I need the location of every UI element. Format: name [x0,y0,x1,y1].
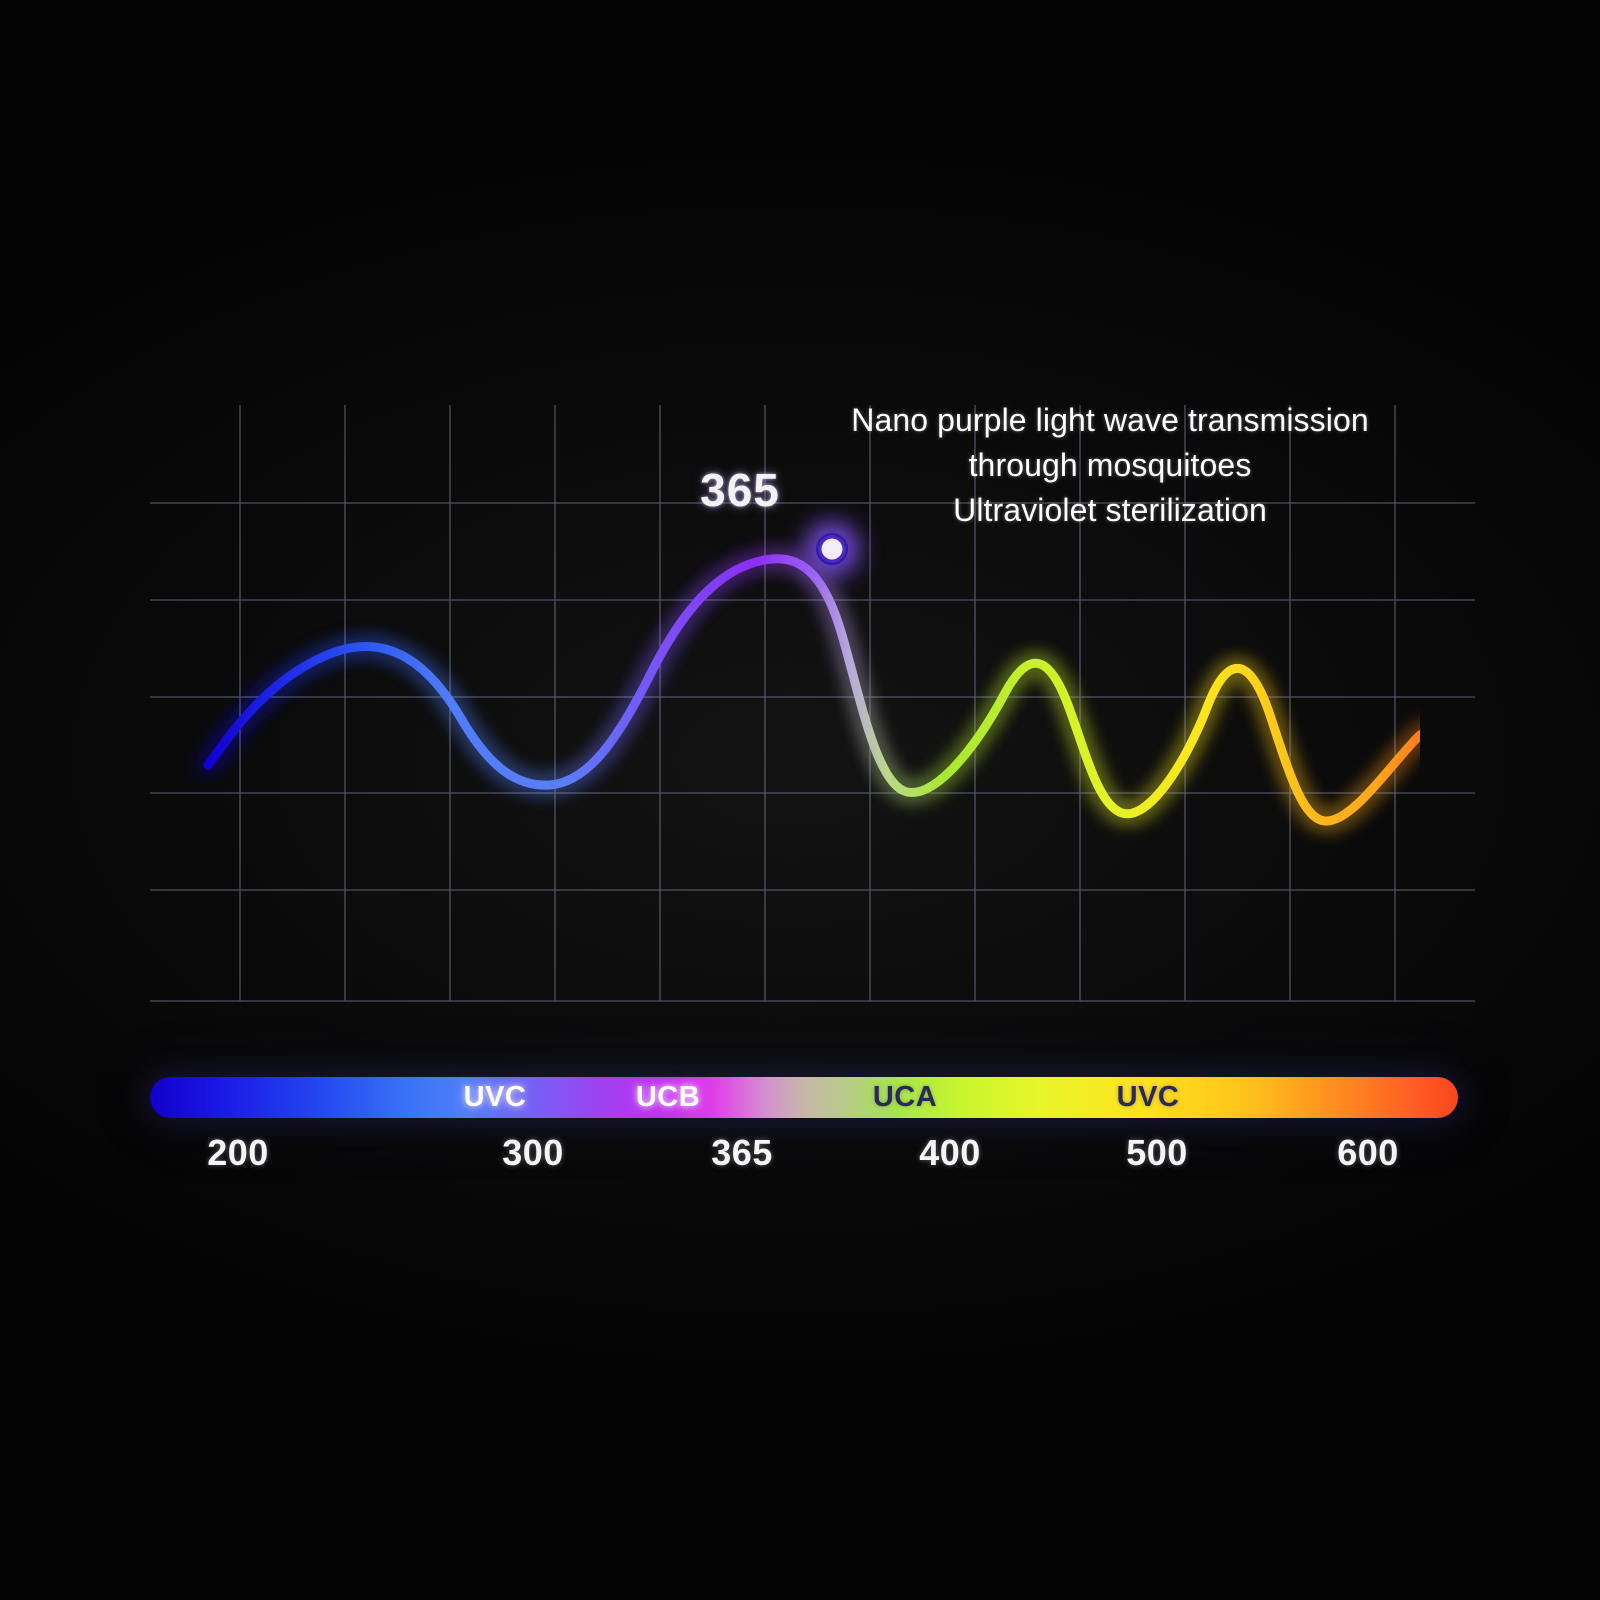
band-label-uvc-2: UVC [1102,1081,1194,1114]
peak-marker-dot [822,539,843,560]
band-label-ucb: UCB [622,1081,714,1114]
tick-label-300: 300 [463,1132,603,1174]
chart-title: Nano purple light wave transmission thro… [800,398,1420,533]
title-line-2: through mosquitoes [800,443,1420,488]
tick-label-200: 200 [168,1132,308,1174]
chart-canvas: 365 Nano purple light wave transmission … [0,0,1600,1600]
band-label-uvc-1: UVC [449,1081,541,1114]
band-label-uca: UCA [859,1081,951,1114]
title-line-1: Nano purple light wave transmission [800,398,1420,443]
title-line-3: Ultraviolet sterilization [800,488,1420,533]
tick-label-600: 600 [1298,1132,1438,1174]
spectrum-gradient-bar [150,1077,1458,1118]
tick-label-400: 400 [880,1132,1020,1174]
tick-label-365: 365 [672,1132,812,1174]
tick-label-500: 500 [1087,1132,1227,1174]
